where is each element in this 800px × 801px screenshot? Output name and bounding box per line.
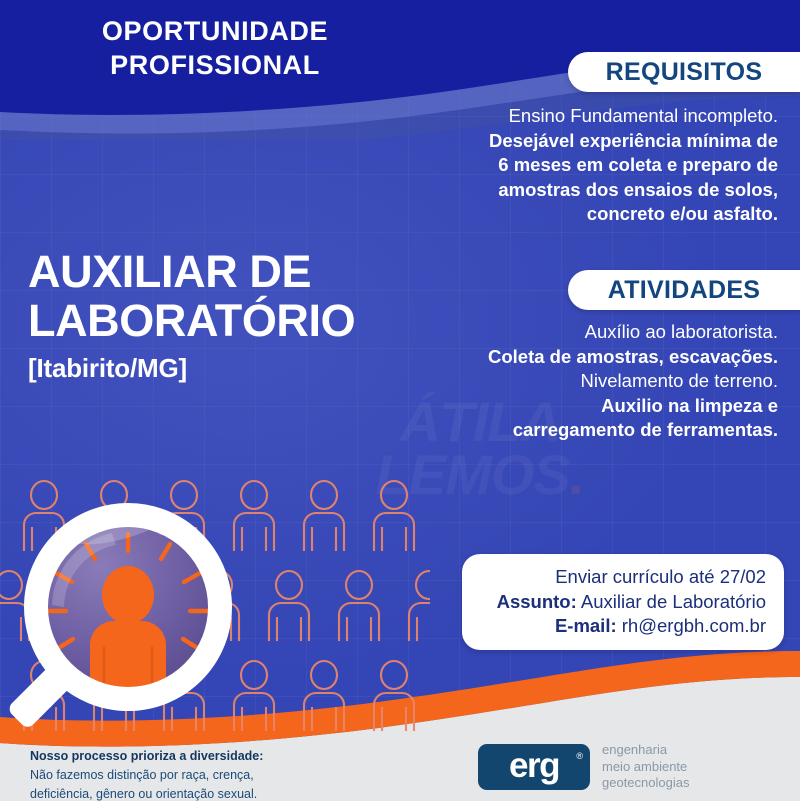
activities-line-1: Auxílio ao laboratorista.	[358, 320, 778, 345]
requirements-badge: REQUISITOS	[568, 52, 800, 92]
activities-line-5: carregamento de ferramentas.	[358, 418, 778, 443]
requirements-line-5: concreto e/ou asfalto.	[358, 202, 778, 227]
contact-deadline: Enviar currículo até 27/02	[555, 565, 766, 590]
contact-subject-value: Auxiliar de Laboratório	[577, 591, 766, 612]
diversity-note-heading: Nosso processo prioriza a diversidade:	[30, 747, 263, 766]
requirements-line-4: amostras dos ensaios de solos,	[358, 178, 778, 203]
crowd-magnifier-illustration	[0, 455, 430, 735]
job-posting-poster: ÁTILA LEMOS. OPORTUNIDADE PROFISSIONAL A…	[0, 0, 800, 801]
page-title: OPORTUNIDADE PROFISSIONAL	[0, 14, 430, 82]
page-title-line-1: OPORTUNIDADE	[0, 14, 430, 48]
registered-trademark-icon: ®	[576, 751, 583, 761]
diversity-note-line-3: deficiência, gênero ou orientação sexual…	[30, 785, 263, 801]
contact-email-label: E-mail:	[555, 615, 617, 636]
company-logo: erg ® engenharia meio ambiente geotecnol…	[478, 742, 689, 792]
logo-mark: erg ®	[478, 744, 590, 790]
logo-tagline-line-2: meio ambiente	[602, 759, 689, 776]
contact-email-value[interactable]: rh@ergbh.com.br	[617, 615, 766, 636]
logo-tagline-line-3: geotecnologias	[602, 775, 689, 792]
contact-subject-label: Assunto:	[497, 591, 577, 612]
logo-tagline: engenharia meio ambiente geotecnologias	[602, 742, 689, 792]
contact-email: E-mail: rh@ergbh.com.br	[555, 614, 766, 639]
activities-line-3: Nivelamento de terreno.	[358, 369, 778, 394]
requirements-text: Ensino Fundamental incompleto. Desejável…	[358, 104, 778, 227]
logo-tagline-line-1: engenharia	[602, 742, 689, 759]
logo-wordmark: erg	[509, 748, 559, 783]
page-title-line-2: PROFISSIONAL	[0, 48, 430, 82]
activities-line-4: Auxilio na limpeza e	[358, 394, 778, 419]
contact-card: Enviar currículo até 27/02 Assunto: Auxi…	[462, 554, 784, 650]
diversity-note: Nosso processo prioriza a diversidade: N…	[30, 747, 263, 801]
activities-badge: ATIVIDADES	[568, 270, 800, 310]
requirements-line-2: Desejável experiência mínima de	[358, 129, 778, 154]
requirements-line-1: Ensino Fundamental incompleto.	[358, 104, 778, 129]
requirements-line-3: 6 meses em coleta e preparo de	[358, 153, 778, 178]
diversity-note-line-2: Não fazemos distinção por raça, crença,	[30, 766, 263, 785]
job-title-line-1: AUXILIAR DE	[28, 248, 428, 297]
activities-line-2: Coleta de amostras, escavações.	[358, 345, 778, 370]
contact-subject: Assunto: Auxiliar de Laboratório	[497, 590, 766, 615]
activities-text: Auxílio ao laboratorista. Coleta de amos…	[358, 320, 778, 443]
